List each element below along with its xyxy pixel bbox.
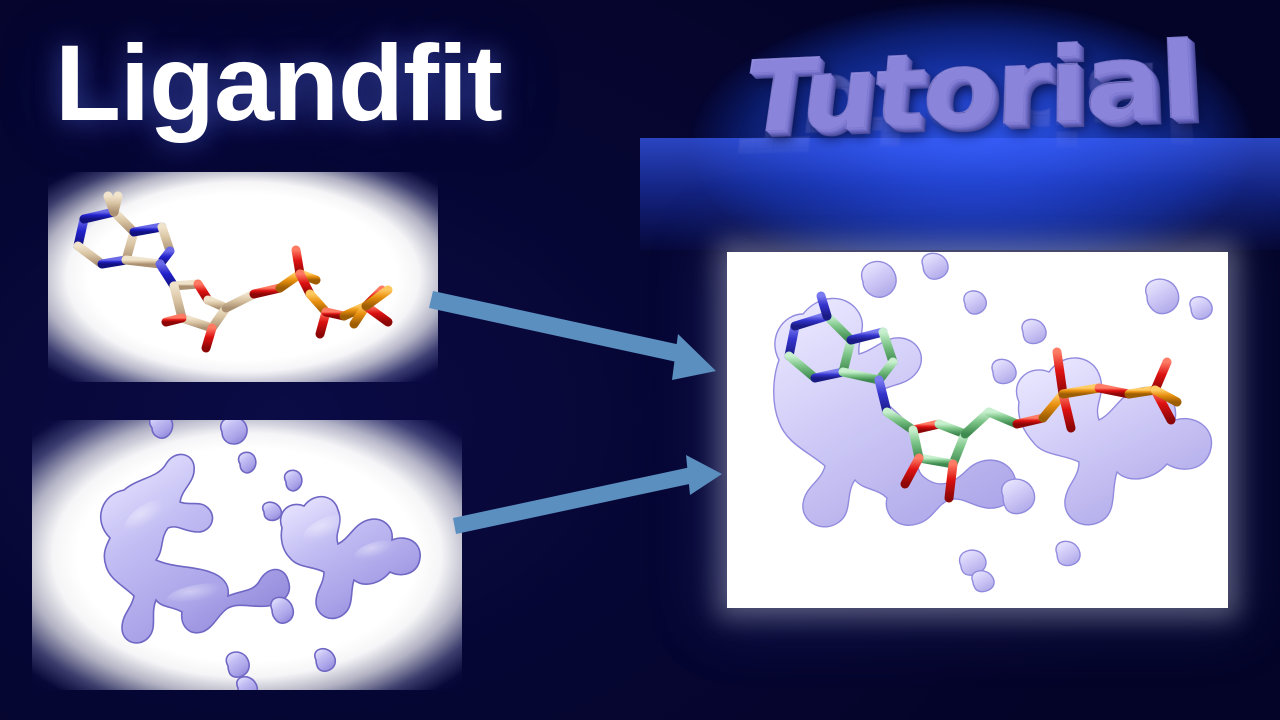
arrow-density-to-result <box>453 455 722 534</box>
slide-canvas: Tutorial Tutorial Ligandfit <box>0 0 1280 720</box>
tutorial-banner: Tutorial Tutorial <box>640 0 1280 250</box>
result-figure <box>727 252 1228 608</box>
density-panel-description: Isosurface blobs of unmodelled differenc… <box>0 0 1 1</box>
ligand-model-figure <box>48 172 438 382</box>
density-map-panel <box>32 420 462 690</box>
ligand-model-panel <box>48 172 438 382</box>
tutorial-word: Tutorial <box>737 21 1201 157</box>
result-panel-description: ATP fitted into the electron density env… <box>0 0 1 1</box>
arrow-ligand-to-result <box>429 291 716 380</box>
page-title: Ligandfit <box>55 26 502 139</box>
density-map-figure <box>32 420 462 690</box>
result-panel <box>727 252 1228 608</box>
tutorial-text-wrap: Tutorial <box>640 0 1280 250</box>
ligand-panel-description: ATP ligand stick model with adenine ring… <box>0 0 1 1</box>
